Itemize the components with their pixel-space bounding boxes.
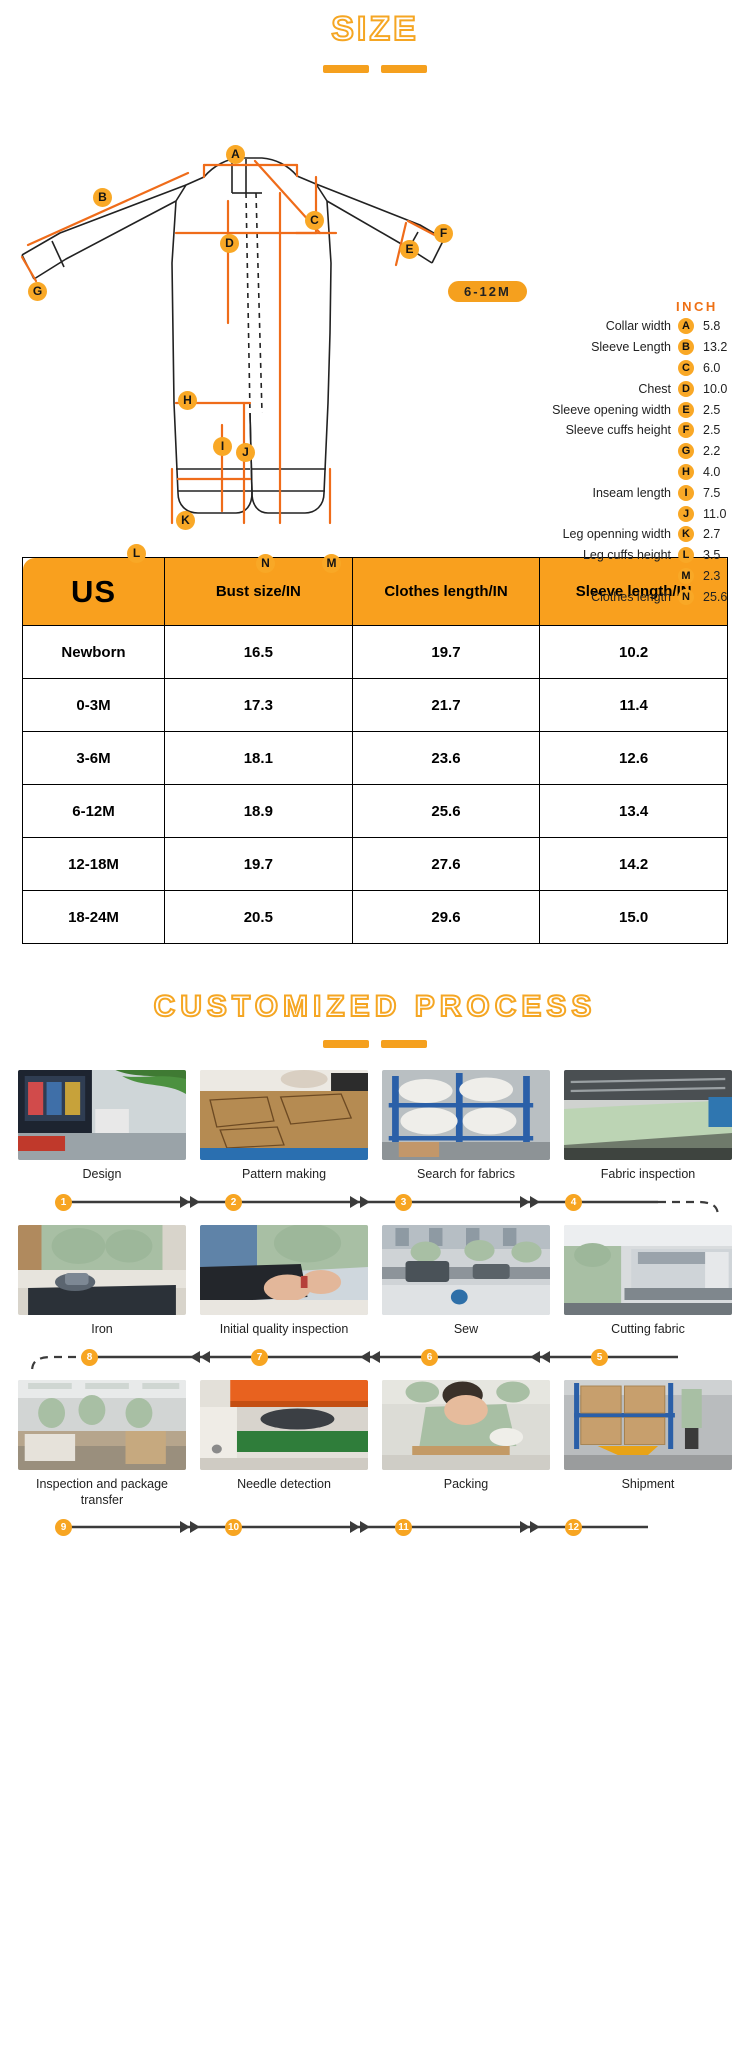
cell-size: 3-6M (23, 732, 165, 785)
measurement-value: 6.0 (694, 361, 740, 375)
table-row: 6-12M 18.9 25.6 13.4 (23, 785, 728, 838)
measurement-key: B (678, 339, 694, 355)
table-row: 3-6M 18.1 23.6 12.6 (23, 732, 728, 785)
process-row-3: Inspection and package transfer (18, 1380, 732, 1544)
diagram-marker-m: M (322, 554, 341, 573)
table-row: 0-3M 17.3 21.7 11.4 (23, 679, 728, 732)
cell-length: 19.7 (352, 626, 540, 679)
divider-dash-left (323, 65, 369, 73)
diagram-marker-c: C (305, 211, 324, 230)
step-badge: 4 (565, 1194, 582, 1211)
diagram-marker-j: J (236, 443, 255, 462)
process-caption: Needle detection (200, 1477, 368, 1493)
measurement-value: 7.5 (694, 486, 740, 500)
measurement-value: 4.0 (694, 465, 740, 479)
shipment-photo (564, 1380, 732, 1470)
process-card: Sew (382, 1225, 550, 1338)
measurement-label: Leg cuffs height (380, 548, 678, 562)
cell-length: 23.6 (352, 732, 540, 785)
process-caption: Shipment (564, 1477, 732, 1493)
measurement-label: Chest (380, 382, 678, 396)
measurement-label: Inseam length (380, 486, 678, 500)
cell-length: 25.6 (352, 785, 540, 838)
process-card: Cutting fabric (564, 1225, 732, 1338)
measurement-key: A (678, 318, 694, 334)
process-card: Pattern making (200, 1070, 368, 1183)
measurement-row: M 2.3 (380, 566, 740, 587)
measurement-key: M (678, 568, 694, 584)
process-card: Design (18, 1070, 186, 1183)
garment-diagram: A B C D E F G H I J K L M N 6-12M INCH C… (0, 73, 750, 543)
cell-size: 0-3M (23, 679, 165, 732)
pattern-making-photo (200, 1070, 368, 1160)
table-row: Newborn 16.5 19.7 10.2 (23, 626, 728, 679)
measurement-row: Collar width A 5.8 (380, 316, 740, 337)
measurement-row: Sleeve opening width E 2.5 (380, 399, 740, 420)
measurement-value: 2.3 (694, 569, 740, 583)
measurement-key: C (678, 360, 694, 376)
diagram-marker-g: G (28, 282, 47, 301)
step-badge: 6 (421, 1349, 438, 1366)
design-photo (18, 1070, 186, 1160)
process-card: Initial quality inspection (200, 1225, 368, 1338)
measurement-label: Clothes length (380, 590, 678, 604)
step-badge: 7 (251, 1349, 268, 1366)
cell-length: 21.7 (352, 679, 540, 732)
table-row: 12-18M 19.7 27.6 14.2 (23, 838, 728, 891)
size-chart-infographic: SIZE (0, 0, 750, 1544)
process-row-1: Design (18, 1070, 732, 1219)
measurement-label: Collar width (380, 319, 678, 333)
measurement-row: Leg cuffs height L 3.5 (380, 545, 740, 566)
diagram-marker-l: L (127, 544, 146, 563)
measurement-key: E (678, 402, 694, 418)
measurement-row: C 6.0 (380, 358, 740, 379)
diagram-marker-b: B (93, 188, 112, 207)
diagram-marker-h: H (178, 391, 197, 410)
iron-photo (18, 1225, 186, 1315)
cell-size: 6-12M (23, 785, 165, 838)
measurement-list: Collar width A 5.8 Sleeve Length B 13.2 … (380, 316, 740, 607)
cell-length: 29.6 (352, 891, 540, 944)
measurement-key: I (678, 485, 694, 501)
process-title-divider (0, 1040, 750, 1048)
cell-sleeve: 10.2 (540, 626, 728, 679)
search-fabrics-photo (382, 1070, 550, 1160)
inspection-package-transfer-photo (18, 1380, 186, 1470)
measurement-row: Inseam length I 7.5 (380, 482, 740, 503)
measurement-key: K (678, 526, 694, 542)
cell-bust: 16.5 (165, 626, 353, 679)
process-card: Iron (18, 1225, 186, 1338)
cell-sleeve: 15.0 (540, 891, 728, 944)
measurement-row: Sleeve cuffs height F 2.5 (380, 420, 740, 441)
initial-quality-inspection-photo (200, 1225, 368, 1315)
measurement-key: F (678, 422, 694, 438)
measurement-key: D (678, 381, 694, 397)
measurement-key: H (678, 464, 694, 480)
sew-photo (382, 1225, 550, 1315)
cell-bust: 17.3 (165, 679, 353, 732)
process-arrows-1: 1 2 3 4 (18, 1185, 732, 1219)
cell-bust: 19.7 (165, 838, 353, 891)
size-table: US Bust size/IN Clothes length/IN Sleeve… (22, 557, 728, 944)
measurement-value: 25.6 (694, 590, 740, 604)
process-section: Design (0, 1070, 750, 1544)
cutting-fabric-photo (564, 1225, 732, 1315)
step-badge: 5 (591, 1349, 608, 1366)
diagram-marker-k: K (176, 511, 195, 530)
measurement-value: 5.8 (694, 319, 740, 333)
cell-size: 12-18M (23, 838, 165, 891)
process-card: Shipment (564, 1380, 732, 1508)
process-caption: Sew (382, 1322, 550, 1338)
cell-bust: 18.1 (165, 732, 353, 785)
step-badge: 3 (395, 1194, 412, 1211)
process-caption: Packing (382, 1477, 550, 1493)
process-row-2: Iron (18, 1225, 732, 1374)
diagram-marker-i: I (213, 437, 232, 456)
process-caption: Fabric inspection (564, 1167, 732, 1183)
process-caption: Design (18, 1167, 186, 1183)
divider-dash-left (323, 1040, 369, 1048)
measurement-value: 10.0 (694, 382, 740, 396)
measurement-value: 2.5 (694, 423, 740, 437)
measurement-key: J (678, 506, 694, 522)
measurement-value: 2.2 (694, 444, 740, 458)
measurement-key: N (678, 589, 694, 605)
table-header-us: US (23, 558, 165, 626)
measurement-value: 2.7 (694, 527, 740, 541)
diagram-marker-f: F (434, 224, 453, 243)
measurement-value: 3.5 (694, 548, 740, 562)
cell-bust: 20.5 (165, 891, 353, 944)
diagram-marker-e: E (400, 240, 419, 259)
divider-dash-right (381, 65, 427, 73)
step-badge: 8 (81, 1349, 98, 1366)
diagram-marker-d: D (220, 234, 239, 253)
size-pill: 6-12M (448, 281, 527, 302)
measurement-value: 11.0 (694, 507, 740, 521)
diagram-marker-a: A (226, 145, 245, 164)
divider-dash-right (381, 1040, 427, 1048)
process-caption: Iron (18, 1322, 186, 1338)
measurement-key: L (678, 547, 694, 563)
measurement-row: G 2.2 (380, 441, 740, 462)
process-arrows-2: 8 7 6 5 (18, 1340, 732, 1374)
process-title: CUSTOMIZED PROCESS (0, 980, 750, 1024)
cell-sleeve: 11.4 (540, 679, 728, 732)
process-card: Needle detection (200, 1380, 368, 1508)
process-card: Fabric inspection (564, 1070, 732, 1183)
size-title: SIZE (0, 0, 750, 49)
packing-photo (382, 1380, 550, 1470)
cell-sleeve: 14.2 (540, 838, 728, 891)
cell-length: 27.6 (352, 838, 540, 891)
unit-label: INCH (676, 299, 718, 314)
process-caption: Search for fabrics (382, 1167, 550, 1183)
cell-bust: 18.9 (165, 785, 353, 838)
measurement-row: Leg openning width K 2.7 (380, 524, 740, 545)
measurement-value: 2.5 (694, 403, 740, 417)
measurement-row: Sleeve Length B 13.2 (380, 337, 740, 358)
process-caption: Cutting fabric (564, 1322, 732, 1338)
process-card: Search for fabrics (382, 1070, 550, 1183)
measurement-row: Chest D 10.0 (380, 378, 740, 399)
measurement-row: H 4.0 (380, 462, 740, 483)
process-caption: Pattern making (200, 1167, 368, 1183)
measurement-value: 13.2 (694, 340, 740, 354)
measurement-label: Sleeve cuffs height (380, 423, 678, 437)
table-row: 18-24M 20.5 29.6 15.0 (23, 891, 728, 944)
cell-size: 18-24M (23, 891, 165, 944)
measurement-label: Leg openning width (380, 527, 678, 541)
fabric-inspection-photo (564, 1070, 732, 1160)
measurement-key: G (678, 443, 694, 459)
measurement-row: Clothes length N 25.6 (380, 586, 740, 607)
cell-size: Newborn (23, 626, 165, 679)
measurement-row: J 11.0 (380, 503, 740, 524)
needle-detection-photo (200, 1380, 368, 1470)
size-title-divider (0, 65, 750, 73)
process-arrows-3: 9 10 11 12 (18, 1510, 732, 1544)
process-card: Inspection and package transfer (18, 1380, 186, 1508)
cell-sleeve: 12.6 (540, 732, 728, 785)
step-badge: 1 (55, 1194, 72, 1211)
process-card: Packing (382, 1380, 550, 1508)
cell-sleeve: 13.4 (540, 785, 728, 838)
measurement-label: Sleeve opening width (380, 403, 678, 417)
diagram-marker-n: N (256, 554, 275, 573)
process-caption: Initial quality inspection (200, 1322, 368, 1338)
process-caption: Inspection and package transfer (18, 1477, 186, 1508)
step-badge: 2 (225, 1194, 242, 1211)
measurement-label: Sleeve Length (380, 340, 678, 354)
